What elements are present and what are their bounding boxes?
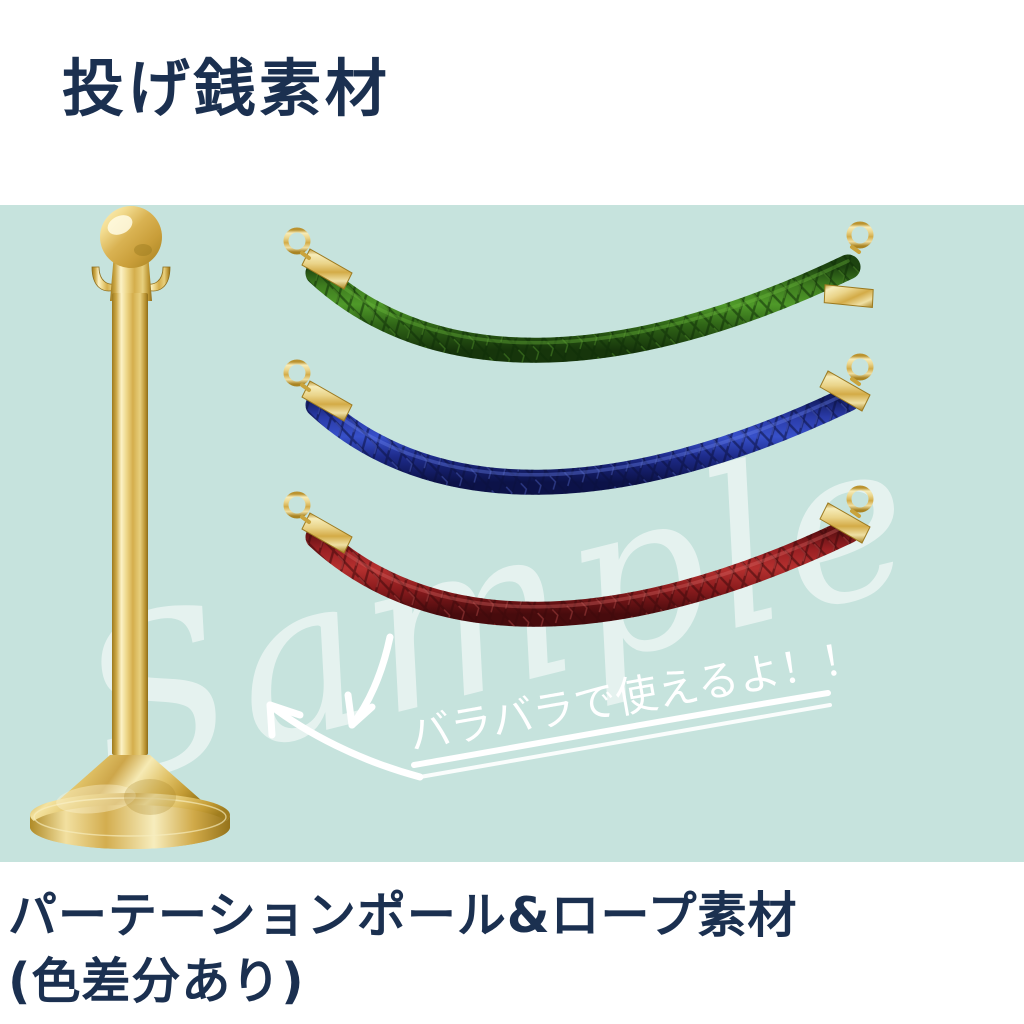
footer-band: パーテーションポール&ロープ素材 (色差分あり) [0, 862, 1024, 1024]
page-root: 投げ銭素材 [0, 0, 1024, 1024]
page-title: 投げ銭素材 [62, 56, 391, 121]
artwork-panel: Sample [0, 205, 1024, 862]
artwork-illustration: Sample [0, 205, 1024, 862]
footer-caption-primary: パーテーションポール&ロープ素材 [8, 876, 798, 947]
ball-finial [100, 206, 162, 268]
pole-shaft [112, 293, 148, 755]
footer-caption-secondary: (色差分あり) [8, 942, 305, 1013]
header-band: 投げ銭素材 [0, 0, 1024, 205]
